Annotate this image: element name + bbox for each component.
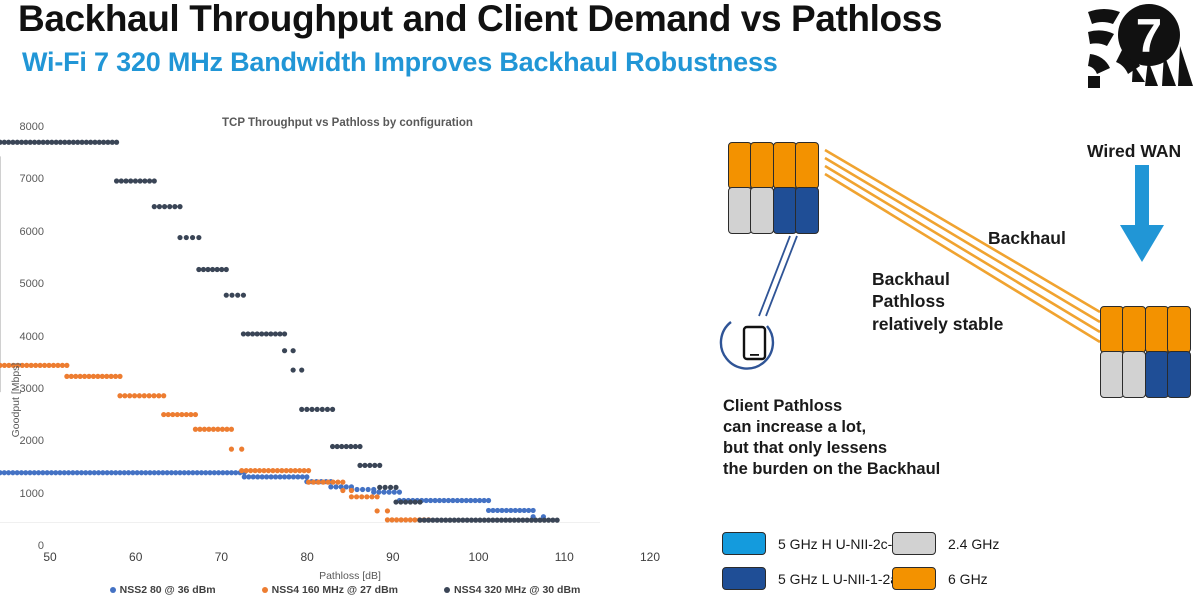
page-subtitle: Wi-Fi 7 320 MHz Bandwidth Improves Backh… <box>22 47 778 78</box>
band-legend-swatch <box>892 532 936 555</box>
label-backhaul-pathloss: Backhaul Pathloss relatively stable <box>872 268 1003 335</box>
label-client-pathloss-line-2: can increase a lot, <box>723 417 940 438</box>
series-2 <box>0 140 560 523</box>
band-legend-swatch <box>722 567 766 590</box>
router-port-6ghz <box>728 142 752 189</box>
band-legend-entry[interactable]: 5 GHz L U-NII-1-2a <box>722 567 892 590</box>
label-wired-wan: Wired WAN <box>1087 140 1181 162</box>
scatter-plot <box>0 104 600 523</box>
router-port-6ghz <box>773 142 797 189</box>
router-port-5ghz-low <box>1167 351 1191 398</box>
band-legend-label: 2.4 GHz <box>948 536 999 552</box>
router-port-24ghz <box>750 187 774 234</box>
x-axis-tick-label: 90 <box>386 550 399 564</box>
router-port-6ghz <box>750 142 774 189</box>
wifi-7-logo-number: 7 <box>1136 9 1162 62</box>
x-axis-label: Pathloss [dB] <box>50 570 650 582</box>
band-legend-entry[interactable]: 5 GHz H U-NII-2c-3 <box>722 532 892 555</box>
router-left-top-row <box>728 142 818 189</box>
chart-legend-marker <box>262 587 268 593</box>
band-legend: 5 GHz H U-NII-2c-32.4 GHz5 GHz L U-NII-1… <box>722 532 1192 590</box>
band-legend-entry[interactable]: 6 GHz <box>892 567 1192 590</box>
x-axis-tick-label: 110 <box>555 550 574 564</box>
router-right <box>1100 306 1190 398</box>
label-backhaul: Backhaul <box>988 227 1066 249</box>
router-port-24ghz <box>1100 351 1124 398</box>
band-legend-label: 5 GHz H U-NII-2c-3 <box>778 536 900 552</box>
chart-legend-entry[interactable]: NSS2 80 @ 36 dBm <box>110 584 216 596</box>
page-title: Backhaul Throughput and Client Demand vs… <box>18 0 942 40</box>
band-legend-label: 6 GHz <box>948 571 988 587</box>
band-legend-label: 5 GHz L U-NII-1-2a <box>778 571 898 587</box>
chart-legend-marker <box>444 587 450 593</box>
series-1 <box>0 363 431 523</box>
x-axis-ticks: 5060708090100110120 <box>50 550 650 570</box>
label-client-pathloss: Client Pathloss can increase a lot, but … <box>723 396 940 480</box>
router-port-6ghz <box>795 142 819 189</box>
chart-legend-label: NSS4 160 MHz @ 27 dBm <box>272 584 398 596</box>
band-legend-swatch <box>892 567 936 590</box>
router-left <box>728 142 818 234</box>
label-backhaul-pathloss-line-3: relatively stable <box>872 313 1003 335</box>
router-port-24ghz <box>1122 351 1146 398</box>
x-axis-tick-label: 100 <box>469 550 489 564</box>
router-right-bottom-row <box>1100 351 1190 398</box>
router-port-5ghz-low <box>773 187 797 234</box>
router-port-6ghz <box>1122 306 1146 353</box>
x-axis-tick-label: 120 <box>640 550 660 564</box>
chart-panel: TCP Throughput vs Pathloss by configurat… <box>0 104 690 608</box>
label-client-pathloss-line-4: the burden on the Backhaul <box>723 459 940 480</box>
router-port-5ghz-low <box>1145 351 1169 398</box>
router-left-bottom-row <box>728 187 818 234</box>
y-axis-tick-label: 0 <box>0 540 44 552</box>
router-right-top-row <box>1100 306 1190 353</box>
chart-legend-label: NSS2 80 @ 36 dBm <box>120 584 216 596</box>
chart-legend-entry[interactable]: NSS4 160 MHz @ 27 dBm <box>262 584 398 596</box>
chart-legend-marker <box>110 587 116 593</box>
band-legend-swatch <box>722 532 766 555</box>
wifi-7-logo: 7 <box>1086 2 1194 90</box>
x-axis-tick-label: 60 <box>129 550 142 564</box>
page-header: Backhaul Throughput and Client Demand vs… <box>0 0 1200 96</box>
band-legend-entry[interactable]: 2.4 GHz <box>892 532 1192 555</box>
label-backhaul-pathloss-line-1: Backhaul <box>872 268 1003 290</box>
series-0 <box>0 470 546 519</box>
chart-legend-label: NSS4 320 MHz @ 30 dBm <box>454 584 580 596</box>
label-client-pathloss-line-3: but that only lessens <box>723 438 940 459</box>
chart-legend-entry[interactable]: NSS4 320 MHz @ 30 dBm <box>444 584 580 596</box>
router-port-24ghz <box>728 187 752 234</box>
label-backhaul-pathloss-line-2: Pathloss <box>872 290 1003 312</box>
label-client-pathloss-line-1: Client Pathloss <box>723 396 940 417</box>
x-axis-tick-label: 50 <box>43 550 56 564</box>
chart-legend: NSS2 80 @ 36 dBmNSS4 160 MHz @ 27 dBmNSS… <box>0 584 690 596</box>
y-axis-label: Goodput [Mbps] <box>10 340 22 460</box>
x-axis-tick-label: 70 <box>215 550 228 564</box>
router-port-6ghz <box>1145 306 1169 353</box>
x-axis-tick-label: 80 <box>300 550 313 564</box>
router-port-6ghz <box>1100 306 1124 353</box>
router-port-6ghz <box>1167 306 1191 353</box>
router-port-5ghz-low <box>795 187 819 234</box>
